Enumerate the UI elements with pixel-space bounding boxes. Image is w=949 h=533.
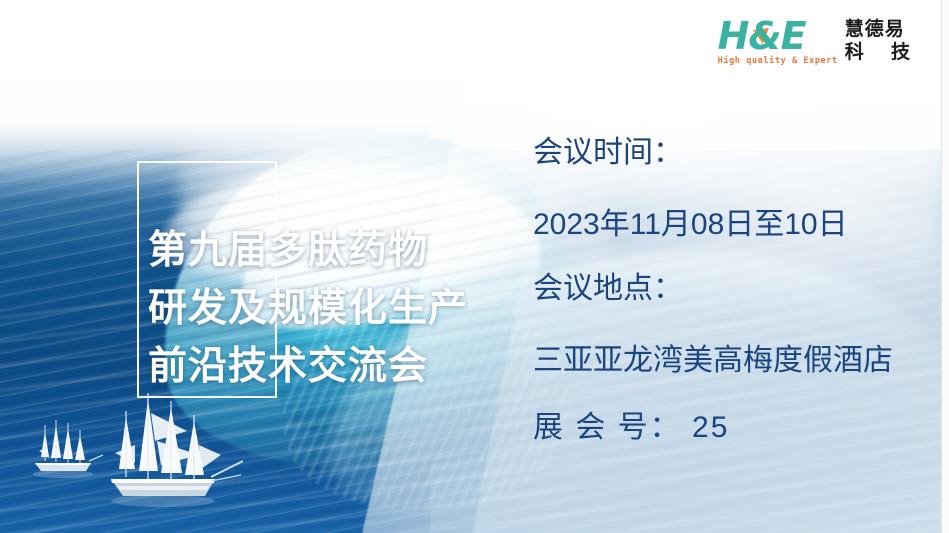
tall-ship-large-icon — [95, 383, 245, 511]
right-edge-strip — [941, 0, 949, 533]
meeting-time-value: 2023年11月08日至10日 — [533, 208, 933, 242]
title-line-3: 前沿技术交流会 — [148, 338, 568, 396]
title-line-2: 研发及规模化生产 — [148, 280, 568, 338]
logo-chinese: 慧德易 科 技 — [845, 18, 921, 64]
poster-title: 第九届多肽药物 研发及规模化生产 前沿技术交流会 — [148, 222, 568, 396]
title-line-1: 第九届多肽药物 — [148, 222, 568, 280]
conference-info: 会议时间： 2023年11月08日至10日 会议地点： 三亚亚龙湾美高梅度假酒店… — [533, 136, 933, 445]
meeting-time-label: 会议时间： — [533, 136, 933, 170]
meeting-place-value: 三亚亚龙湾美高梅度假酒店 — [533, 344, 933, 378]
logo-mark: H&E High quality & Expert — [718, 17, 838, 66]
conference-poster: H&E High quality & Expert 慧德易 科 技 第九届多肽药… — [0, 0, 949, 533]
logo-chinese-line2: 科 技 — [845, 41, 921, 64]
logo-chinese-line1: 慧德易 — [845, 18, 921, 41]
booth-number: 展 会 号： 25 — [533, 411, 933, 445]
tall-ship-small-icon — [25, 411, 105, 481]
meeting-place-label: 会议地点： — [533, 272, 933, 306]
logo-latin-text: H&E — [718, 17, 806, 55]
he-technology-logo[interactable]: H&E High quality & Expert 慧德易 科 技 — [710, 12, 927, 70]
logo-latin-label: H&E — [718, 14, 806, 58]
